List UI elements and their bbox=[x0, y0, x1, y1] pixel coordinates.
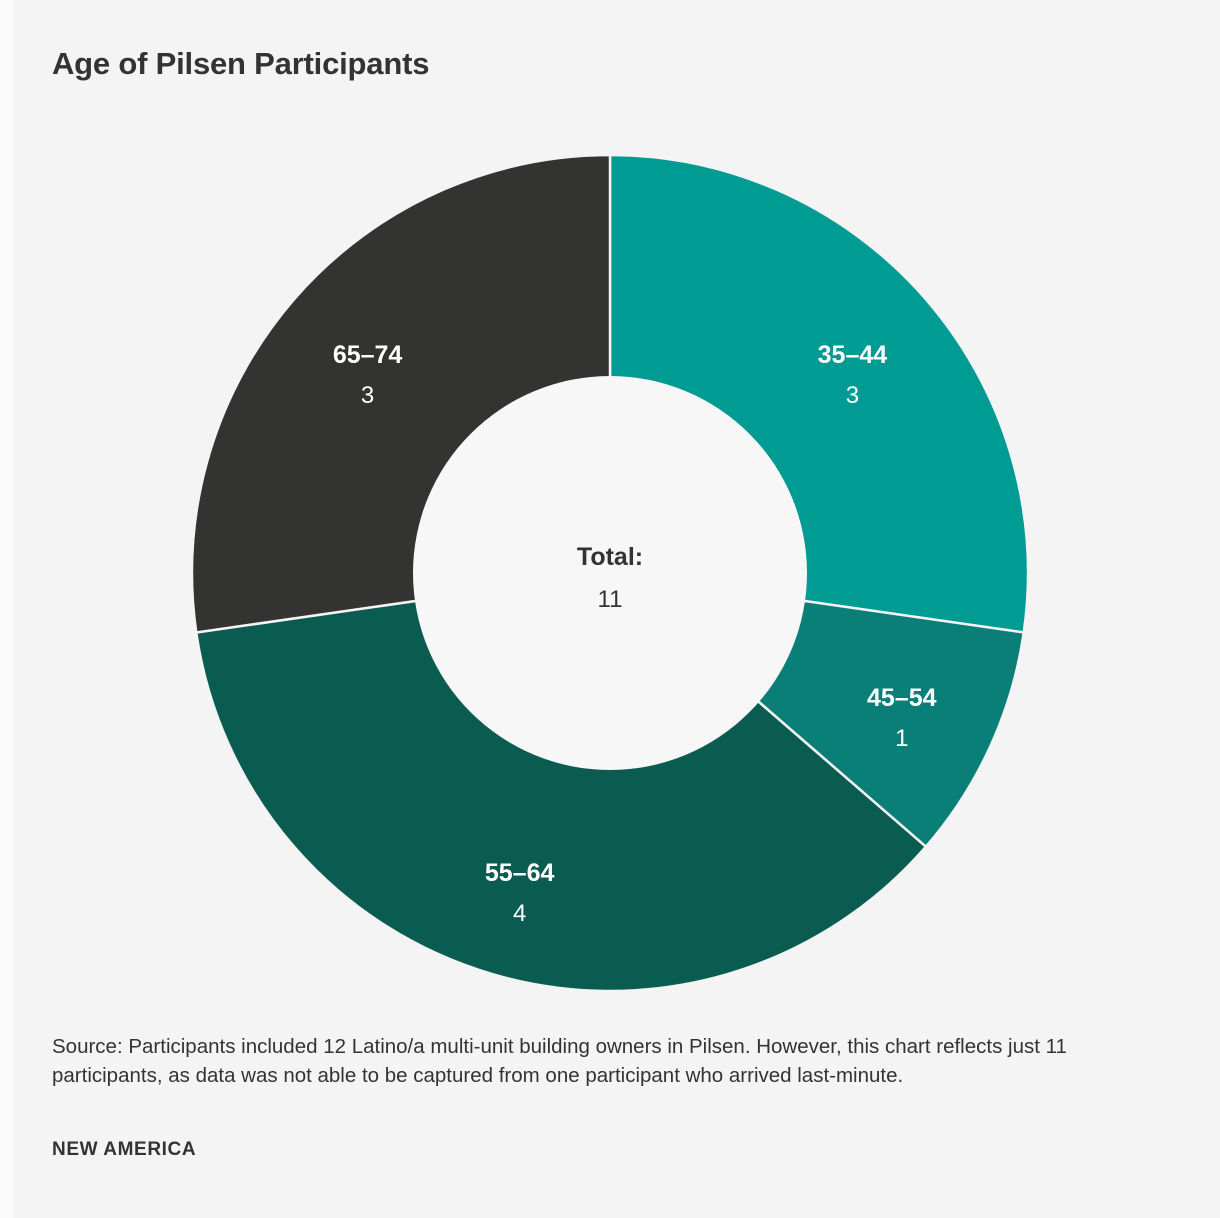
donut-chart-svg: 35–44345–54155–64465–743 Total: 11 bbox=[150, 140, 1090, 1020]
donut-chart: 35–44345–54155–64465–743 Total: 11 bbox=[150, 140, 1090, 1020]
source-note: Source: Participants included 12 Latino/… bbox=[52, 1032, 1170, 1090]
chart-page: Age of Pilsen Participants 35–44345–5415… bbox=[0, 0, 1220, 1218]
slice-value: 3 bbox=[361, 382, 374, 409]
donut-hole bbox=[413, 376, 807, 770]
slice-label: 45–54 bbox=[867, 684, 937, 712]
slice-value: 3 bbox=[846, 382, 859, 409]
center-total-label: Total: bbox=[577, 543, 643, 571]
slice-value: 1 bbox=[895, 725, 908, 752]
page-title: Age of Pilsen Participants bbox=[52, 46, 429, 82]
slice-label: 35–44 bbox=[818, 341, 888, 369]
center-total-value: 11 bbox=[598, 586, 623, 613]
left-edge-rail bbox=[0, 0, 14, 1218]
slice-label: 55–64 bbox=[485, 859, 555, 887]
slice-label: 65–74 bbox=[333, 341, 403, 369]
brand-logo-text: NEW AMERICA bbox=[52, 1139, 196, 1161]
slice-value: 4 bbox=[513, 900, 526, 927]
